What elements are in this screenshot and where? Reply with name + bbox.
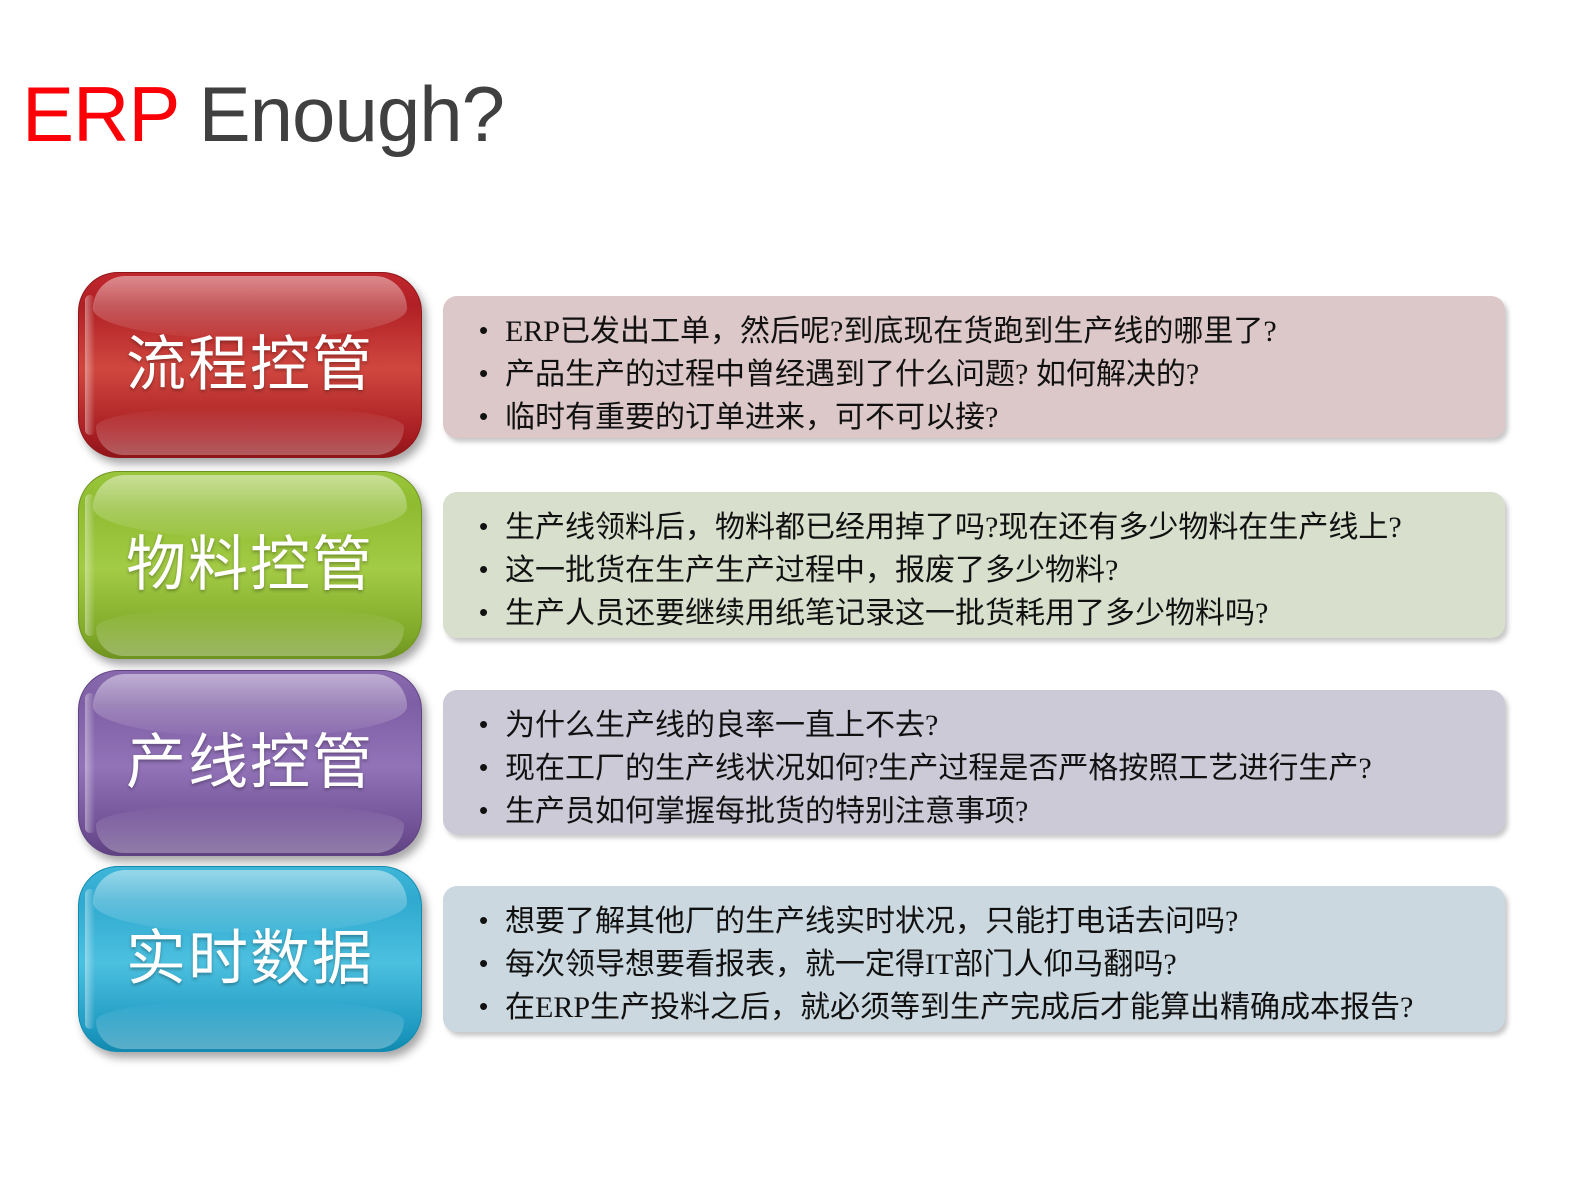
category-button-label: 流程控管 (126, 335, 374, 395)
list-item: 每次领导想要看报表，就一定得IT部门人仰马翻吗? (477, 943, 1485, 986)
category-button-realtime-data[interactable]: 实时数据 (78, 866, 422, 1052)
category-button-label: 实时数据 (126, 929, 374, 989)
list-item: 产品生产的过程中曾经遇到了什么问题? 如何解决的? (477, 353, 1485, 396)
list-item: 为什么生产线的良率一直上不去? (477, 704, 1485, 747)
gloss-edge-icon (85, 494, 95, 635)
gloss-highlight-icon (93, 870, 408, 933)
list-item: 现在工厂的生产线状况如何?生产过程是否严格按照工艺进行生产? (477, 747, 1485, 790)
gloss-highlight-icon (93, 276, 408, 339)
category-button-line-control[interactable]: 产线控管 (78, 670, 422, 856)
category-button-process-control[interactable]: 流程控管 (78, 272, 422, 458)
category-button-label: 物料控管 (126, 535, 374, 595)
bullet-panel: 生产线领料后，物料都已经用掉了吗?现在还有多少物料在生产线上? 这一批货在生产生… (443, 492, 1505, 638)
gloss-edge-icon (85, 693, 95, 833)
bullet-list: 生产线领料后，物料都已经用掉了吗?现在还有多少物料在生产线上? 这一批货在生产生… (477, 506, 1485, 635)
list-item: ERP已发出工单，然后呢?到底现在货跑到生产线的哪里了? (477, 310, 1485, 353)
bullet-panel: 想要了解其他厂的生产线实时状况，只能打电话去问吗? 每次领导想要看报表，就一定得… (443, 886, 1505, 1032)
category-button-label: 产线控管 (126, 733, 374, 793)
gloss-bottom-icon (96, 1001, 404, 1049)
list-item: 生产员如何掌握每批货的特别注意事项? (477, 790, 1485, 833)
bullet-list: ERP已发出工单，然后呢?到底现在货跑到生产线的哪里了? 产品生产的过程中曾经遇… (477, 310, 1485, 439)
list-item: 生产人员还要继续用纸笔记录这一批货耗用了多少物料吗? (477, 592, 1485, 635)
gloss-bottom-icon (96, 805, 404, 853)
gloss-highlight-icon (93, 674, 408, 737)
list-item: 想要了解其他厂的生产线实时状况，只能打电话去问吗? (477, 900, 1485, 943)
category-button-material-control[interactable]: 物料控管 (78, 471, 422, 659)
page-title-highlight: ERP (22, 70, 178, 158)
list-item: 在ERP生产投料之后，就必须等到生产完成后才能算出精确成本报告? (477, 986, 1485, 1029)
list-item: 生产线领料后，物料都已经用掉了吗?现在还有多少物料在生产线上? (477, 506, 1485, 549)
gloss-bottom-icon (96, 608, 404, 656)
gloss-edge-icon (85, 295, 95, 435)
page-title-rest: Enough? (178, 70, 504, 158)
bullet-list: 想要了解其他厂的生产线实时状况，只能打电话去问吗? 每次领导想要看报表，就一定得… (477, 900, 1485, 1029)
bullet-panel: ERP已发出工单，然后呢?到底现在货跑到生产线的哪里了? 产品生产的过程中曾经遇… (443, 296, 1505, 438)
gloss-bottom-icon (96, 407, 404, 455)
gloss-edge-icon (85, 889, 95, 1029)
list-item: 这一批货在生产生产过程中，报废了多少物料? (477, 549, 1485, 592)
bullet-list: 为什么生产线的良率一直上不去? 现在工厂的生产线状况如何?生产过程是否严格按照工… (477, 704, 1485, 833)
gloss-highlight-icon (93, 475, 408, 538)
list-item: 临时有重要的订单进来，可不可以接? (477, 396, 1485, 439)
page-title: ERP Enough? (22, 68, 504, 160)
bullet-panel: 为什么生产线的良率一直上不去? 现在工厂的生产线状况如何?生产过程是否严格按照工… (443, 690, 1505, 834)
